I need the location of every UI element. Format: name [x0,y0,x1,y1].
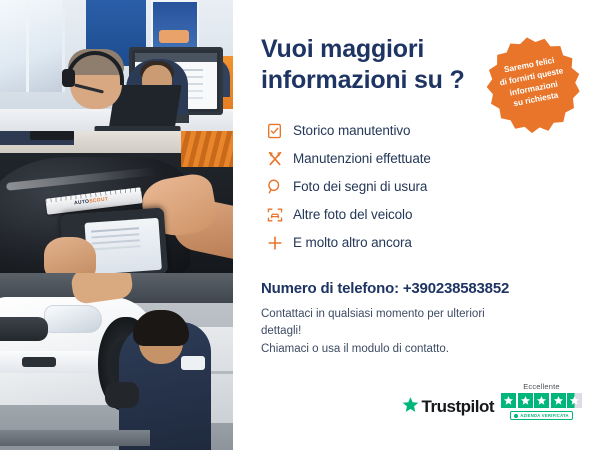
car-headlight [44,305,102,333]
list-item-label: Manutenzioni effettuate [293,151,431,166]
badge-content: Saremo felici di fornirti queste informa… [466,26,600,164]
crossed-tools-icon [267,151,293,167]
list-item-label: Storico manutentivo [293,123,410,138]
badge-text: Saremo felici di fornirti queste informa… [481,51,584,116]
trustpilot-wordmark: Trustpilot [422,397,494,417]
clipboard [30,131,74,140]
agent-foreground [24,39,136,131]
vehicle-lift-platform [0,430,150,446]
magnifier-icon [267,179,293,194]
gauge-brand-mark: AUTOSCOUT [74,196,109,206]
verified-company-badge: AZIENDA VERIFICATA [510,411,573,420]
wall-poster [151,0,199,50]
list-item-label: Altre foto del veicolo [293,207,412,222]
rating-label: Eccellente [523,382,560,391]
orange-blinds [181,131,233,167]
mechanic-wheel-photo [0,273,233,450]
phone-label: Numero di telefono: [261,280,399,297]
mechanic-glove [105,382,139,408]
star-filled [518,393,533,408]
contact-line-2: Chiamaci o usa il modulo di contatto. [261,341,511,358]
car-grille [0,317,48,341]
trustpilot-star-icon [402,396,419,418]
headline-line-2: informazioni su ? [261,65,476,96]
car-focus-frame-icon [267,207,293,223]
clipboard-check-icon [267,123,293,139]
verified-check-icon [514,414,518,418]
page-title: Vuoi maggiori informazioni su ? [261,34,476,95]
uniform-logo-patch [181,356,205,370]
list-item: Foto dei segni di usura [267,173,578,200]
trustpilot-widget[interactable]: Trustpilot Eccellente [402,382,582,420]
headset-earcup [62,69,75,87]
content-panel: Vuoi maggiori informazioni su ? [233,0,600,450]
contact-line-1: Contattaci in qualsiasi momento per ulte… [261,306,511,341]
tablet-screen [84,218,161,273]
phone-number[interactable]: +390238583852 [403,280,509,297]
callout-badge: Saremo felici di fornirti queste informa… [476,36,594,154]
inspector-hand-holding-tablet [44,237,96,273]
trustpilot-brand: Trustpilot [402,396,494,420]
list-item-label: E molto altro ancora [293,235,412,250]
star-rating [501,393,582,408]
star-filled [551,393,566,408]
list-item: Altre foto del veicolo [267,201,578,228]
star-half [567,393,582,408]
star-filled [501,393,516,408]
list-item-label: Foto dei segni di usura [293,179,427,194]
photo-column: AUTOSCOUT [0,0,233,450]
phone-line: Numero di telefono: +390238583852 [261,280,578,297]
headline-line-1: Vuoi maggiori [261,34,476,65]
car-foglight [22,357,56,367]
call-center-agents-photo [0,0,233,131]
star-filled [534,393,549,408]
advertisement-banner: AUTOSCOUT [0,0,600,450]
plus-icon [267,235,293,251]
list-item: E molto altro ancora [267,229,578,256]
vehicle-inspection-photo: AUTOSCOUT [0,131,233,273]
contact-instructions: Contattaci in qualsiasi momento per ulte… [261,306,511,358]
verified-label: AZIENDA VERIFICATA [520,413,569,418]
trustpilot-rating: Eccellente [501,382,582,420]
